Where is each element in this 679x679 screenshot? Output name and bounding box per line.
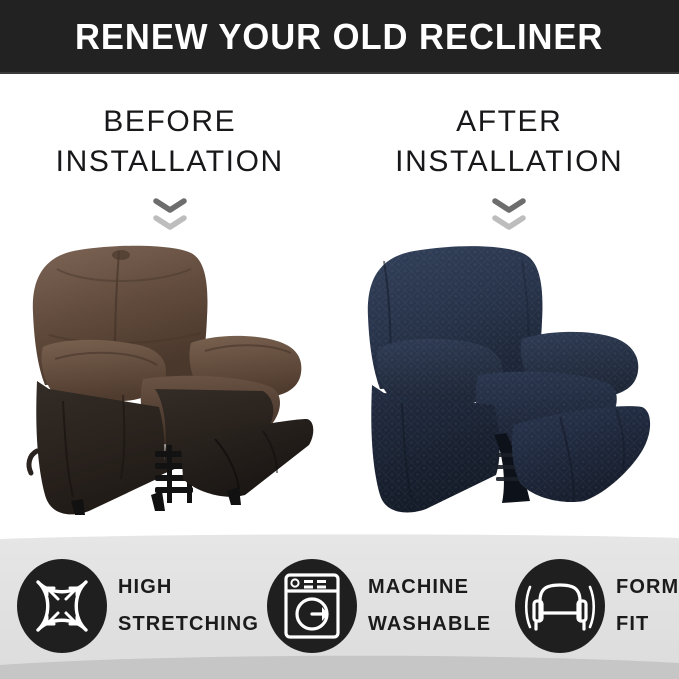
feature-label-washer-line1: MACHINE bbox=[368, 576, 469, 598]
before-heading-line2: INSTALLATION bbox=[0, 142, 340, 182]
brown-recliner-image bbox=[15, 239, 325, 519]
washing-machine-icon bbox=[266, 557, 358, 655]
after-heading-line2: INSTALLATION bbox=[340, 142, 679, 182]
after-heading-line1: AFTER bbox=[456, 105, 562, 138]
feature-label-formfit-line2: FIT bbox=[616, 606, 679, 643]
header-banner: RENEW YOUR OLD RECLINER bbox=[0, 0, 679, 74]
double-chevron-down-icon bbox=[492, 198, 526, 214]
feature-band: HIGH STRETCHING bbox=[0, 533, 679, 679]
double-chevron-down-icon bbox=[153, 198, 187, 214]
feature-label-washer-line2: WASHABLE bbox=[368, 606, 491, 643]
feature-label-formfit-line1: FORM bbox=[616, 576, 679, 598]
after-chevron-group bbox=[340, 198, 679, 231]
after-heading: AFTER INSTALLATION bbox=[340, 102, 679, 182]
before-heading-line1: BEFORE bbox=[103, 105, 236, 138]
feature-label-stretch-line1: HIGH bbox=[118, 576, 172, 598]
page-title: RENEW YOUR OLD RECLINER bbox=[75, 19, 603, 55]
feature-icon-wrap-washer bbox=[266, 557, 358, 655]
feature-label-stretch-line2: STRETCHING bbox=[118, 606, 259, 643]
feature-label-formfit: FORM FIT bbox=[616, 569, 679, 643]
feature-high-stretching: HIGH STRETCHING bbox=[16, 557, 266, 655]
after-image-stage bbox=[340, 239, 679, 529]
before-image-stage bbox=[0, 239, 340, 529]
before-column: BEFORE INSTALLATION bbox=[0, 74, 340, 535]
feature-label-washer: MACHINE WASHABLE bbox=[368, 569, 491, 643]
stretch-arrows-icon bbox=[16, 557, 108, 655]
double-chevron-down-icon-secondary bbox=[153, 215, 187, 231]
feature-list: HIGH STRETCHING bbox=[0, 533, 679, 679]
feature-form-fit: FORM FIT bbox=[514, 557, 679, 655]
feature-icon-wrap-formfit bbox=[514, 557, 606, 655]
feature-machine-washable: MACHINE WASHABLE bbox=[266, 557, 514, 655]
double-chevron-down-icon-secondary bbox=[492, 215, 526, 231]
after-column: AFTER INSTALLATION bbox=[340, 74, 679, 535]
before-chevron-group bbox=[0, 198, 340, 231]
feature-label-stretch: HIGH STRETCHING bbox=[118, 569, 259, 643]
feature-icon-wrap-stretch bbox=[16, 557, 108, 655]
before-heading: BEFORE INSTALLATION bbox=[0, 102, 340, 182]
sofa-form-fit-icon bbox=[514, 557, 606, 655]
product-marketing-image: RENEW YOUR OLD RECLINER BEFORE INSTALLAT… bbox=[0, 0, 679, 679]
before-after-comparison: BEFORE INSTALLATION bbox=[0, 74, 679, 535]
navy-slipcovered-recliner-image bbox=[354, 239, 664, 519]
